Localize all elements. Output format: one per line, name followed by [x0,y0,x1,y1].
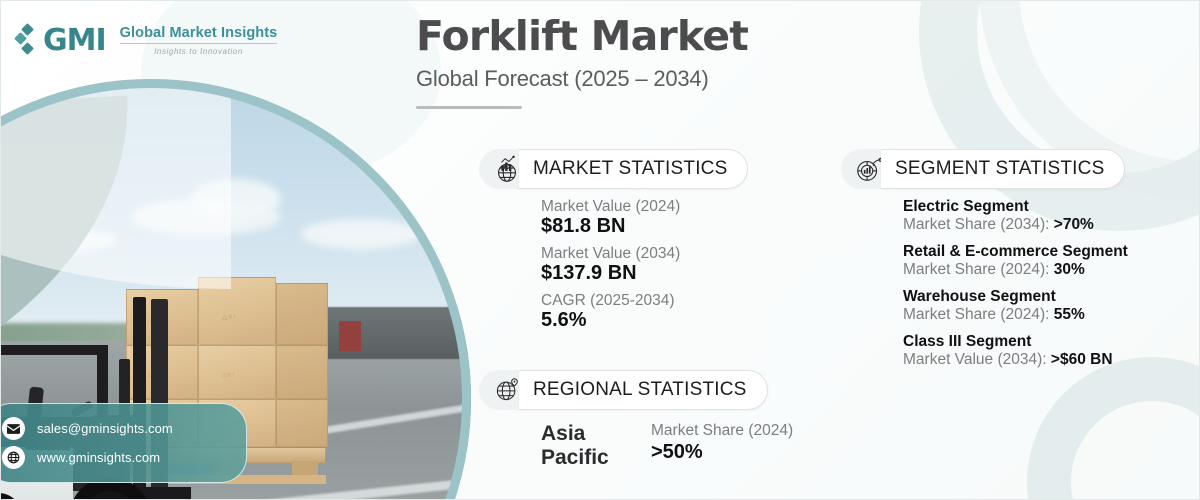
segment-metric: Market Share (2024): 30% [903,261,1128,279]
segment-name: Class III Segment [903,333,1128,351]
ring-decoration-bottom-right [1027,357,1200,500]
cloud-shape [301,219,421,249]
warehouse-door [339,321,361,351]
gmi-logo[interactable]: GMI Global Market Insights Insights to I… [15,23,277,58]
segment-name: Electric Segment [903,198,1128,216]
region-metric: Market Share (2024) >50% [651,422,793,464]
logo-gmi-text: GMI [43,23,106,58]
market-statistics-heading: MARKET STATISTICS [533,158,727,180]
market-statistics-section: MARKET STATISTICS Market Value (2024) $8… [479,149,748,339]
stat-value: $137.9 BN [541,262,748,285]
company-name: Global Market Insights [120,25,278,44]
gmi-diamonds-icon [15,24,35,58]
crescent-overlay-highlight [0,79,231,289]
infographic-canvas: ⌂▿⌃ △▿↑ ⌂▿⌃ ⌂▿↑ ⌂▿⌃ ⌂▿↑ [0,0,1200,500]
stat-value: 5.6% [541,309,748,332]
segment-row: Retail & E-commerce Segment Market Share… [903,243,1128,279]
segment-name: Warehouse Segment [903,288,1128,306]
market-statistics-pill: MARKET STATISTICS [519,149,748,189]
contact-email: sales@gminsights.com [37,421,173,436]
segment-metric-value: 55% [1054,306,1085,323]
regional-statistics-body: AsiaPacific Market Share (2024) >50% [541,422,793,469]
regional-statistics-heading: REGIONAL STATISTICS [533,379,747,401]
segment-statistics-body: Electric Segment Market Share (2034): >7… [903,198,1128,369]
segment-metric: Market Share (2024): 55% [903,306,1128,324]
segment-metric-label: Market Share (2024): [903,306,1054,323]
segment-metric-value: >$60 BN [1051,351,1113,368]
segment-statistics-pill: SEGMENT STATISTICS [881,149,1125,189]
cab-roof [0,345,107,355]
stat-label: Market Value (2024) [541,198,748,216]
segment-metric-label: Market Share (2034): [903,216,1054,233]
segment-row: Warehouse Segment Market Share (2024): 5… [903,288,1128,324]
segment-metric: Market Share (2034): >70% [903,216,1128,234]
segment-metric: Market Value (2034): >$60 BN [903,351,1128,369]
segment-name: Retail & E-commerce Segment [903,243,1128,261]
logo-wordmark: Global Market Insights Insights to Innov… [114,25,278,56]
segment-metric-label: Market Share (2024): [903,261,1054,278]
market-statistics-body: Market Value (2024) $81.8 BN Market Valu… [541,198,748,332]
title-block: Forklift Market Global Forecast (2025 – … [416,15,748,109]
contact-email-row[interactable]: sales@gminsights.com [2,414,230,443]
contact-badge: sales@gminsights.com www.gminsights.com [0,403,247,483]
segment-row: Electric Segment Market Share (2034): >7… [903,198,1128,234]
segment-statistics-section: SEGMENT STATISTICS Electric Segment Mark… [841,149,1128,378]
regional-statistics-pill: REGIONAL STATISTICS [519,370,768,410]
company-tagline: Insights to Innovation [120,47,278,56]
segment-metric-value: >70% [1054,216,1094,233]
stat-row: CAGR (2025-2034) 5.6% [541,292,748,332]
globe-icon [2,446,25,469]
stat-label: Market Value (2034) [541,245,748,263]
regional-statistics-header: REGIONAL STATISTICS [479,370,793,410]
envelope-icon [2,417,25,440]
region-metric-value: >50% [651,441,793,464]
segment-row: Class III Segment Market Value (2034): >… [903,333,1128,369]
page-subtitle: Global Forecast (2025 – 2034) [416,66,748,92]
regional-statistics-section: REGIONAL STATISTICS AsiaPacific Market S… [479,370,793,469]
segment-metric-value: 30% [1054,261,1085,278]
title-divider [416,106,522,109]
market-statistics-header: MARKET STATISTICS [479,149,748,189]
region-metric-label: Market Share (2024) [651,422,793,440]
segment-statistics-heading: SEGMENT STATISTICS [895,158,1104,180]
region-name: AsiaPacific [541,422,623,469]
contact-website-row[interactable]: www.gminsights.com [2,443,230,472]
segment-statistics-header: SEGMENT STATISTICS [841,149,1128,189]
page-title: Forklift Market [416,15,748,58]
stat-row: Market Value (2034) $137.9 BN [541,245,748,285]
stat-value: $81.8 BN [541,215,748,238]
stat-row: Market Value (2024) $81.8 BN [541,198,748,238]
stat-label: CAGR (2025-2034) [541,292,748,310]
segment-metric-label: Market Value (2034): [903,351,1051,368]
contact-website: www.gminsights.com [37,450,160,465]
